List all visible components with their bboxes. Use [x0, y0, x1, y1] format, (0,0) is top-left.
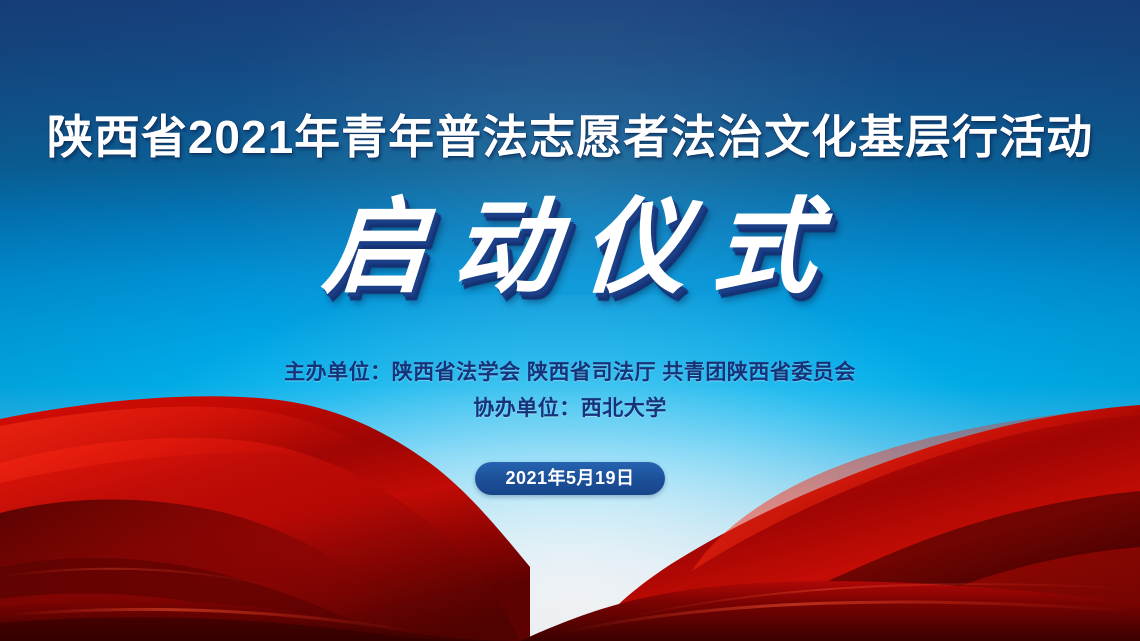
organizer-block: 主办单位：陕西省法学会 陕西省司法厅 共青团陕西省委员会 协办单位：西北大学 [0, 355, 1140, 426]
event-date-badge: 2021年5月19日 [475, 462, 664, 495]
page-title: 陕西省2021年青年普法志愿者法治文化基层行活动 [0, 114, 1140, 160]
date-badge-container: 2021年5月19日 [0, 462, 1140, 495]
co-organizer: 协办单位：西北大学 [0, 391, 1140, 427]
event-poster: 陕西省2021年青年普法志愿者法治文化基层行活动 启动仪式 主办单位：陕西省法学… [0, 0, 1140, 641]
poster-content: 陕西省2021年青年普法志愿者法治文化基层行活动 启动仪式 主办单位：陕西省法学… [0, 0, 1140, 641]
headline-qidong-yishi: 启动仪式 [0, 186, 1140, 309]
host-organizations: 主办单位：陕西省法学会 陕西省司法厅 共青团陕西省委员会 [0, 355, 1140, 391]
